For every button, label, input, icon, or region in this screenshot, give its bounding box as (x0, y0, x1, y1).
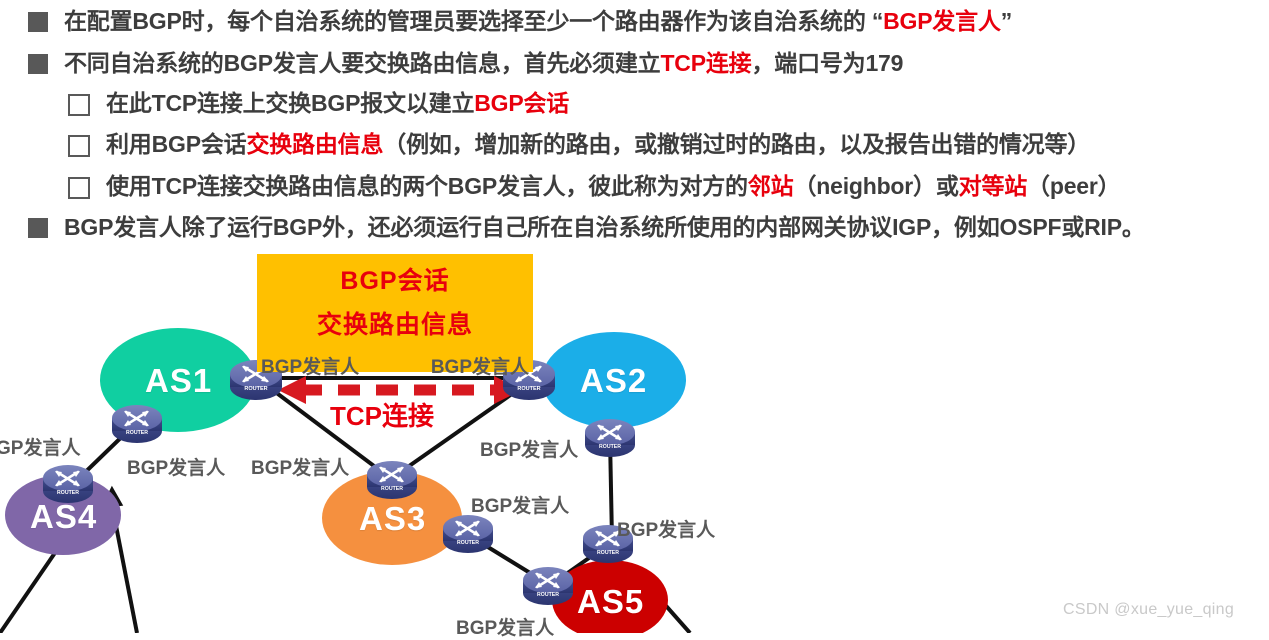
speaker-label-as5-lower: BGP发言人 (456, 613, 554, 640)
router-as3-right: ROUTER (443, 515, 493, 553)
svg-text:ROUTER: ROUTER (381, 486, 403, 492)
session-subtitle: 交换路由信息 (257, 298, 533, 342)
tcp-connection-label: TCP连接 (330, 396, 434, 433)
session-speaker-row: BGP发言人 BGP发言人 (257, 342, 533, 379)
router-as2-lower: ROUTER (585, 419, 635, 457)
bullet-1-segment-3: ” (1001, 8, 1012, 34)
svg-text:ROUTER: ROUTER (457, 540, 479, 546)
filled-square-bullet-icon (28, 12, 48, 32)
svg-text:ROUTER: ROUTER (244, 386, 267, 392)
session-speaker-right: BGP发言人 (431, 352, 529, 379)
bullet-text-block: 在配置BGP时，每个自治系统的管理员要选择至少一个路由器作为该自治系统的 “BG… (0, 0, 1269, 248)
router-as3-top: ROUTER (367, 461, 417, 499)
router-as4-top: ROUTER (43, 465, 93, 503)
filled-square-bullet-icon (28, 218, 48, 238)
bullet-4-segment-3: （例如，增加新的路由，或撤销过时的路由，以及报告出错的情况等） (383, 131, 1090, 157)
hollow-square-bullet-icon (68, 135, 90, 157)
bullet-item-3: 在此TCP连接上交换BGP报文以建立BGP会话 (68, 88, 569, 118)
bullet-1-segment-1: 在配置BGP时，每个自治系统的管理员要选择至少一个路由器作为该自治系统的 “ (64, 8, 883, 34)
bullet-2-segment-3: ，端口号为179 (751, 50, 903, 76)
svg-text:ROUTER: ROUTER (57, 490, 79, 496)
bullet-5-segment-1: 使用TCP连接交换路由信息的两个BGP发言人，彼此称为对方的 (106, 173, 748, 199)
bullet-item-1: 在配置BGP时，每个自治系统的管理员要选择至少一个路由器作为该自治系统的 “BG… (28, 6, 1012, 36)
bgp-session-callout: BGP会话 交换路由信息 BGP发言人 BGP发言人 (257, 254, 533, 372)
svg-text:ROUTER: ROUTER (599, 444, 621, 450)
bullet-text-4: 利用BGP会话交换路由信息（例如，增加新的路由，或撤销过时的路由，以及报告出错的… (106, 129, 1090, 159)
bullet-4-segment-1: 利用BGP会话 (106, 131, 246, 157)
bullet-1-segment-2: BGP发言人 (883, 8, 1001, 34)
bullet-3-segment-1: 在此TCP连接上交换BGP报文以建立 (106, 90, 474, 116)
bullet-3-segment-2: BGP会话 (474, 90, 569, 116)
topology-svg: ROUTER ROUTER ROUTER (0, 240, 1269, 633)
bullet-item-5: 使用TCP连接交换路由信息的两个BGP发言人，彼此称为对方的邻站（neighbo… (68, 171, 1120, 201)
bullet-2-segment-2: TCP连接 (660, 50, 751, 76)
bullet-text-5: 使用TCP连接交换路由信息的两个BGP发言人，彼此称为对方的邻站（neighbo… (106, 171, 1120, 201)
speaker-label-as1-lower: BGP发言人 (127, 453, 225, 480)
bullet-5-segment-4: 对等站 (959, 173, 1027, 199)
speaker-label-as3-right: BGP发言人 (471, 491, 569, 518)
speaker-label-as3-upper: BGP发言人 (251, 453, 349, 480)
bgp-topology-diagram: ROUTER ROUTER ROUTER (0, 240, 1269, 633)
svg-text:ROUTER: ROUTER (517, 386, 540, 392)
svg-text:ROUTER: ROUTER (597, 550, 619, 556)
svg-text:ROUTER: ROUTER (126, 430, 148, 436)
speaker-label-left-edge: GP发言人 (0, 433, 80, 460)
tcp-arrow-head-left (278, 376, 306, 404)
bullet-item-6: BGP发言人除了运行BGP外，还必须运行自己所在自治系统所使用的内部网关协议IG… (28, 212, 1145, 242)
router-as5-left: ROUTER (523, 567, 573, 605)
hollow-square-bullet-icon (68, 94, 90, 116)
bullet-2-segment-1: 不同自治系统的BGP发言人要交换路由信息，首先必须建立 (64, 50, 660, 76)
csdn-watermark: CSDN @xue_yue_qing (1063, 601, 1234, 619)
speaker-label-as2-lower: BGP发言人 (480, 435, 578, 462)
session-speaker-left: BGP发言人 (261, 352, 359, 379)
bullet-text-1: 在配置BGP时，每个自治系统的管理员要选择至少一个路由器作为该自治系统的 “BG… (64, 6, 1012, 36)
router-as1-lower: ROUTER (112, 405, 162, 443)
bullet-4-segment-2: 交换路由信息 (246, 131, 383, 157)
bullet-5-segment-3: （neighbor）或 (793, 173, 958, 199)
hollow-square-bullet-icon (68, 177, 90, 199)
as-ellipse-as2 (542, 332, 686, 428)
svg-text:ROUTER: ROUTER (537, 592, 559, 598)
bullet-item-4: 利用BGP会话交换路由信息（例如，增加新的路由，或撤销过时的路由，以及报告出错的… (68, 129, 1090, 159)
session-title: BGP会话 (257, 254, 533, 298)
filled-square-bullet-icon (28, 54, 48, 74)
bullet-item-2: 不同自治系统的BGP发言人要交换路由信息，首先必须建立TCP连接，端口号为179 (28, 48, 903, 78)
bullet-text-2: 不同自治系统的BGP发言人要交换路由信息，首先必须建立TCP连接，端口号为179 (64, 48, 903, 78)
bullet-6-segment-1: BGP发言人除了运行BGP外，还必须运行自己所在自治系统所使用的内部网关协议IG… (64, 214, 1145, 240)
bullet-text-6: BGP发言人除了运行BGP外，还必须运行自己所在自治系统所使用的内部网关协议IG… (64, 212, 1145, 242)
bullet-text-3: 在此TCP连接上交换BGP报文以建立BGP会话 (106, 88, 569, 118)
speaker-label-as5-upper: BGP发言人 (617, 515, 715, 542)
bullet-5-segment-2: 邻站 (748, 173, 794, 199)
bullet-5-segment-5: （peer） (1027, 173, 1120, 199)
